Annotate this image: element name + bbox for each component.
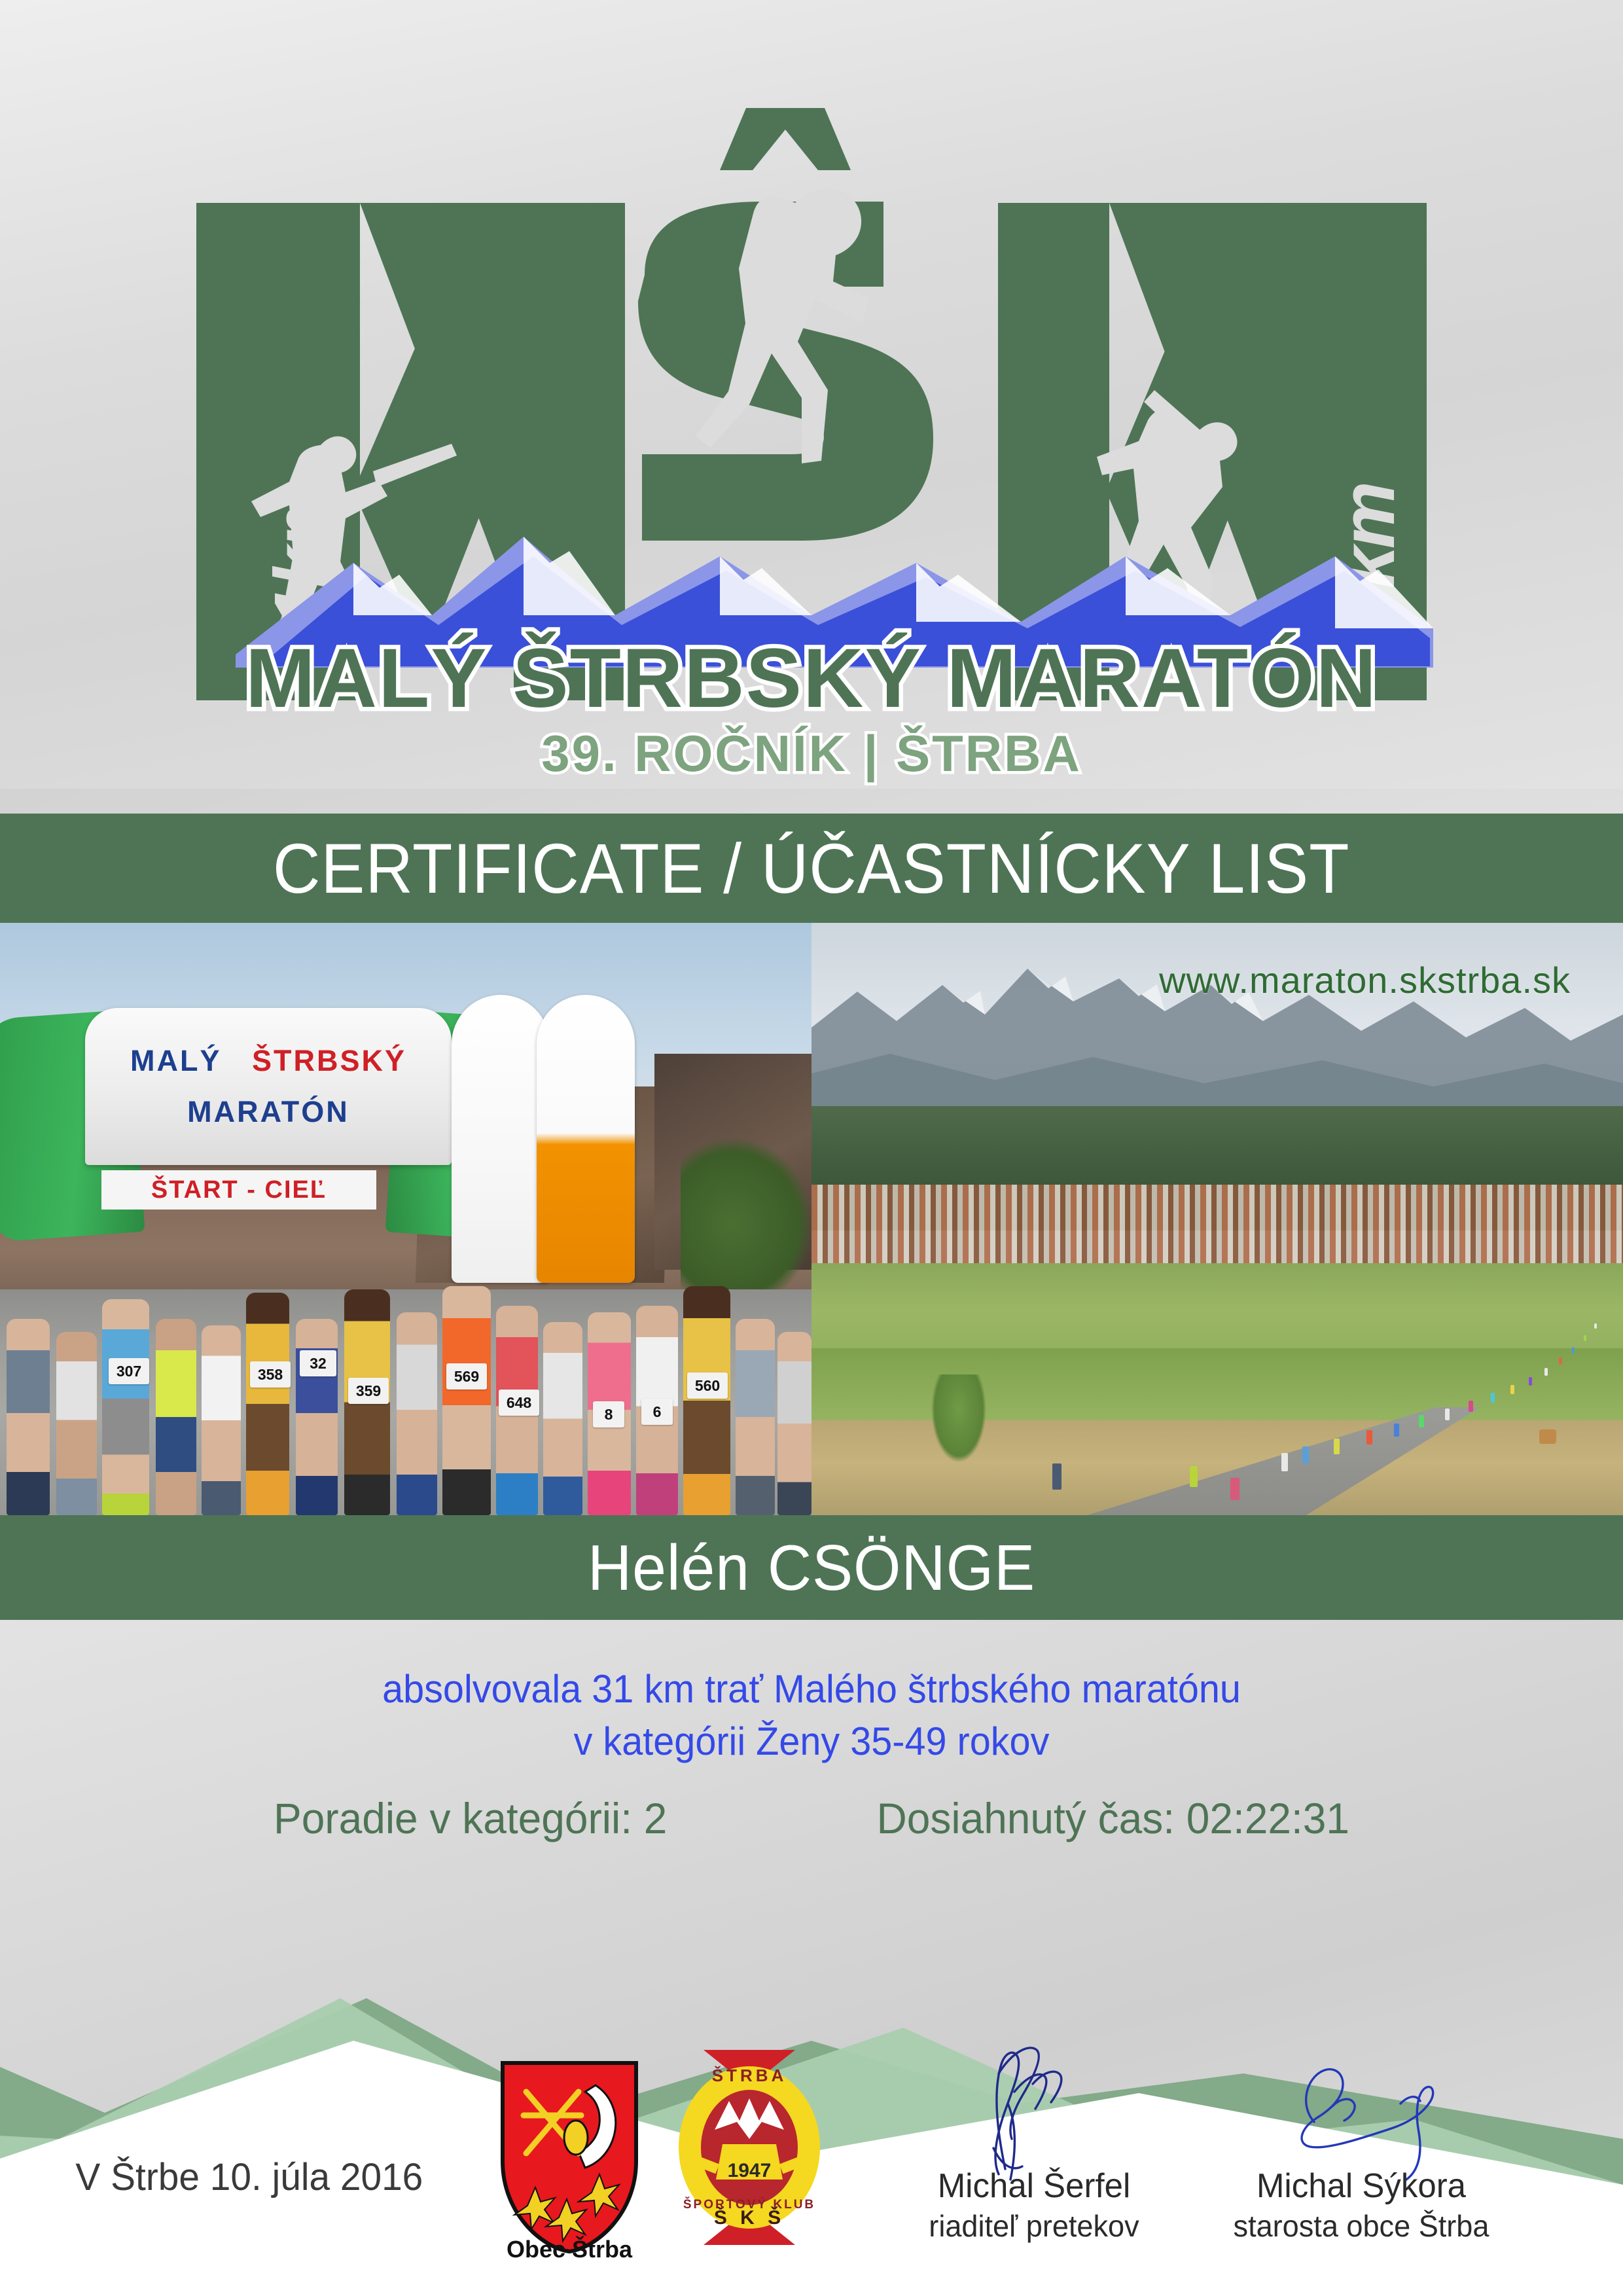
bib-number: 359: [348, 1378, 389, 1404]
header-logo-area: 31km: [0, 0, 1623, 789]
logo-event-name: MALÝ ŠTRBSKÝ MARATÓN: [245, 632, 1378, 725]
club-arc-text: ŠPORTOVÝ KLUB: [683, 2197, 815, 2212]
participant-name-band: Helén CSÖNGE: [0, 1515, 1623, 1620]
finish-time: Dosiahnutý čas: 02:22:31: [877, 1793, 1349, 1843]
photo-runner-crowd: 307 358 32 359 569 648 8 6 560: [0, 1253, 811, 1515]
certificate-body: absolvovala 31 km trať Malého štrbského …: [0, 1620, 1623, 1901]
municipality-label: Obec Štrba: [497, 2236, 641, 2263]
teardrop-flag-sks: [537, 995, 635, 1283]
start-finish-banner: ŠTART - CIEĽ: [101, 1170, 376, 1210]
logo-edition-line: 39. ROČNÍK | ŠTRBA: [541, 725, 1082, 782]
arch-word-maraton: MARATÓN: [187, 1095, 349, 1128]
signature-role-mayor: starosta obce Štrba: [1207, 2208, 1515, 2244]
category-rank: Poradie v kategórii: 2: [274, 1793, 667, 1843]
bib-number: 6: [641, 1399, 673, 1425]
description-line-2: v kategórii Ženy 35-49 rokov: [33, 1715, 1591, 1768]
bib-number: 648: [499, 1390, 539, 1416]
signature-name-mayor: Michal Sýkora: [1207, 2166, 1515, 2206]
results-row: Poradie v kategórii: 2 Dosiahnutý čas: 0…: [24, 1793, 1599, 1843]
photo-mountain-course: www.maraton.skstrba.sk: [811, 923, 1623, 1515]
signature-role-director: riaditeľ pretekov: [880, 2208, 1188, 2244]
sks-club-logo-icon: 1947 ŠTRBA Š K Š ŠPORTOVÝ KLUB: [674, 2046, 825, 2249]
arch-banner-line-1: MALÝ ŠTRBSKÝ: [130, 1044, 406, 1078]
msm-logo-svg: 31km: [157, 39, 1466, 785]
issue-date: V Štrbe 10. júla 2016: [75, 2155, 423, 2199]
inflatable-arch-banner: MALÝ ŠTRBSKÝ MARATÓN: [85, 1008, 452, 1165]
photo-strip: MALÝ ŠTRBSKÝ MARATÓN ŠTART - CIEĽ: [0, 923, 1623, 1515]
photo-lone-tree: [929, 1374, 988, 1466]
arch-word-maly: MALÝ: [130, 1044, 222, 1077]
bib-number: 569: [446, 1363, 487, 1390]
arch-banner-line-2: MARATÓN: [187, 1095, 349, 1129]
photo-race-start: MALÝ ŠTRBSKÝ MARATÓN ŠTART - CIEĽ: [0, 923, 811, 1515]
bib-number: 307: [109, 1358, 149, 1384]
certificate-title-band: CERTIFICATE / ÚČASTNÍCKY LIST: [0, 814, 1623, 923]
bib-number: 32: [300, 1350, 336, 1376]
bib-number: 358: [250, 1361, 291, 1388]
signature-block-director: Michal Šerfel riaditeľ pretekov: [877, 2041, 1191, 2244]
teardrop-flag-tatry: [452, 995, 550, 1283]
signature-mark-mayor: [1204, 2041, 1518, 2185]
participant-name: Helén CSÖNGE: [588, 1531, 1035, 1605]
signature-mark-director: [877, 2041, 1191, 2185]
bib-number: 560: [687, 1372, 728, 1399]
club-top-text: ŠTRBA: [712, 2066, 787, 2085]
certificate-footer: V Štrbe 10. júla 2016 Obec Štrba: [0, 2015, 1623, 2296]
achievement-description: absolvovala 31 km trať Malého štrbského …: [33, 1663, 1591, 1768]
msm-logo: 31km: [157, 39, 1466, 785]
website-url[interactable]: www.maraton.skstrba.sk: [1159, 959, 1571, 1001]
description-line-1: absolvovala 31 km trať Malého štrbského …: [33, 1663, 1591, 1715]
arch-word-strbsky: ŠTRBSKÝ: [252, 1044, 406, 1077]
club-year: 1947: [728, 2160, 772, 2181]
signature-block-mayor: Michal Sýkora starosta obce Štrba: [1204, 2041, 1518, 2244]
obec-strba-crest-icon: [497, 2059, 641, 2255]
signature-name-director: Michal Šerfel: [880, 2166, 1188, 2206]
bib-number: 8: [593, 1401, 624, 1427]
certificate-page: 31km: [0, 0, 1623, 2296]
certificate-title: CERTIFICATE / ÚČASTNÍCKY LIST: [273, 833, 1349, 904]
